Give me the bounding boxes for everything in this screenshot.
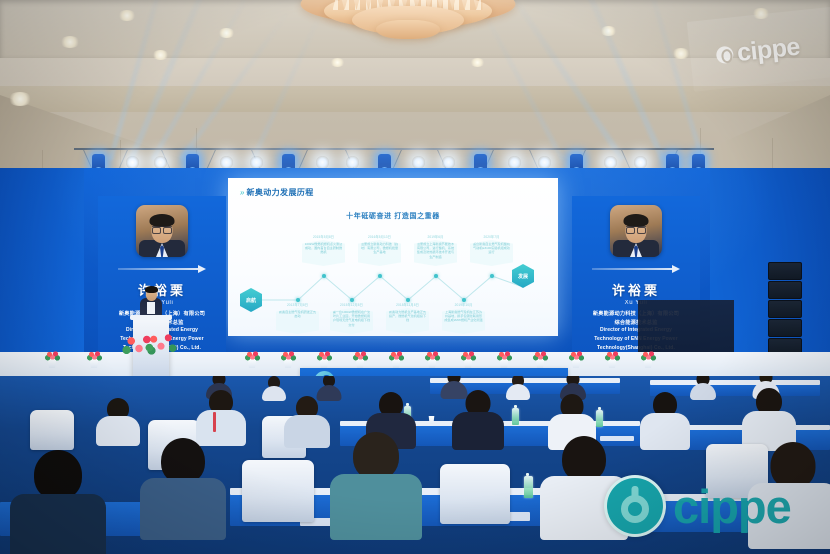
- timeline-date: 2019年10月: [455, 302, 473, 307]
- audience-person: [140, 438, 226, 534]
- audience-table-top: [650, 380, 820, 385]
- audience-person: [262, 376, 286, 400]
- speaker-en-name: Xu Yuli: [98, 300, 226, 306]
- timeline-dot: [378, 274, 382, 278]
- speaker-portrait: [136, 205, 188, 257]
- audience-person: [10, 450, 106, 554]
- speaker-cn-name: 许裕栗: [98, 280, 226, 299]
- wall-sign-text: cippe: [736, 32, 801, 67]
- audience-person: [690, 376, 716, 399]
- ceiling-downlight: [470, 58, 485, 67]
- timeline-text: E2100kW级燃机机组研发通过241项首次开机测试，标志着用户小型燃机正式进入…: [498, 240, 541, 266]
- lotus-chandelier-icon: [300, 0, 515, 50]
- audience-chair: [242, 460, 314, 522]
- water-bottle: [524, 476, 533, 498]
- water-bottle: [512, 408, 519, 425]
- cippe-watermark-text: cippe: [673, 483, 791, 530]
- timeline-date: 2021年10月: [413, 302, 431, 307]
- timeline-text: 上海新奥燃气轮机在江苏苏州基地，携手包钢化联用形成集成2MW燃机产业化测温: [442, 308, 485, 334]
- speaker-cn-name: 许裕栗: [572, 280, 700, 299]
- slide-title: 新奥动力发展历程: [246, 187, 313, 198]
- audience-person: [284, 396, 330, 446]
- speaker-portrait: [610, 205, 662, 257]
- slide-title-row: » 新奥动力发展历程: [240, 187, 314, 198]
- timeline-date: 2022年5月: [512, 234, 528, 239]
- chevron-right-icon: »: [239, 188, 243, 197]
- timeline-text: 新奥动力微型燃气轮机首次出口海外市场，微燃机技术获取国家级工业2021年度"上海…: [400, 308, 443, 334]
- presentation-screen: » 新奥动力发展历程 十年砥砺奋进 打造国之重器 启航 发展 2013年7月8日…: [228, 178, 558, 336]
- slide-subtitle: 十年砥砺奋进 打造国之重器: [228, 211, 558, 221]
- timeline-dot: [322, 274, 326, 278]
- audience-person: [96, 398, 140, 444]
- audience-person: [506, 376, 530, 400]
- timeline-date: 2013年7月8日: [287, 302, 308, 307]
- cippe-logo-icon: [715, 45, 734, 64]
- timeline-text: 100kW微燃机燃机点火测试成功，国内首台自主研制微燃机: [302, 240, 345, 266]
- arrow-right-icon: [118, 264, 206, 274]
- timeline-date: 2015年5月8日: [313, 234, 334, 239]
- audience-person: [330, 432, 422, 534]
- audience-chair: [440, 464, 510, 524]
- audience-person: [452, 390, 504, 448]
- timeline-dot: [434, 274, 438, 278]
- timeline-item: 2016年5月13日 注册成立新奥动力科技（廊坊）有限公司，微燃机批量生产基地: [358, 234, 401, 266]
- timeline-text: 注册成立上海新奥节能技术有限公司，进行整机、系统集成及防热循环技术开发与生产制造: [414, 240, 457, 266]
- timeline-date: 2019年6月: [428, 234, 444, 239]
- audience-person: [196, 390, 246, 444]
- ceiling-downlight: [218, 28, 235, 38]
- ceiling-downlight: [118, 10, 136, 21]
- ceiling-downlight: [8, 92, 32, 106]
- timeline-text: 第一台100kW微燃机在广安叶片工业园，开始微燃机用户现场天然气发电机组下线交付: [330, 308, 373, 334]
- cippe-watermark: cippe: [604, 470, 822, 542]
- arrow-right-icon: [592, 264, 680, 274]
- timeline-item: 2015年5月8日 100kW微燃机燃机点火测试成功，国内首台自主研制微燃机: [302, 234, 345, 266]
- ceiling-downlight: [152, 50, 169, 60]
- cippe-logo-icon: [604, 475, 666, 537]
- audience-person: [640, 392, 690, 448]
- presenter-shirt: [147, 302, 155, 314]
- timeline-date: 2015年12月8日: [340, 302, 363, 307]
- timeline-dot: [490, 274, 494, 278]
- water-bottle: [596, 410, 603, 427]
- timeline-date: 2016年5月13日: [368, 234, 391, 239]
- timeline-text: 新奥自主燃气轮机研发正式启动: [276, 308, 319, 334]
- timeline-item: 2013年7月8日 新奥自主燃气轮机研发正式启动: [276, 302, 319, 334]
- audience-person: [742, 388, 796, 448]
- timeline-item: 2019年6月 注册成立上海新奥节能技术有限公司，进行整机、系统集成及防热循环技…: [414, 234, 457, 266]
- ceiling-downlight: [330, 58, 345, 67]
- slide-timeline: 启航 发展 2013年7月8日 新奥自主燃气轮机研发正式启动 2015年5月8日…: [240, 228, 546, 328]
- timeline-item: 2019年10月 上海新奥燃气轮机在江苏苏州基地，携手包钢化联用形成集成2MW燃…: [442, 302, 485, 334]
- stage-flower-row: [0, 338, 830, 368]
- timeline-text: 注册成立新奥动力科技（廊坊）有限公司，微燃机批量生产基地: [358, 240, 401, 266]
- ceiling-downlight: [60, 36, 80, 48]
- ceiling-downlight: [600, 26, 617, 36]
- presenter-hair: [145, 286, 158, 293]
- ceiling-downlight: [672, 48, 690, 59]
- timeline-item: 2015年12月8日 第一台100kW微燃机在广安叶片工业园，开始微燃机用户现场…: [330, 302, 373, 334]
- conference-hall-photo: cippe: [0, 0, 830, 554]
- audience-chair: [30, 410, 74, 450]
